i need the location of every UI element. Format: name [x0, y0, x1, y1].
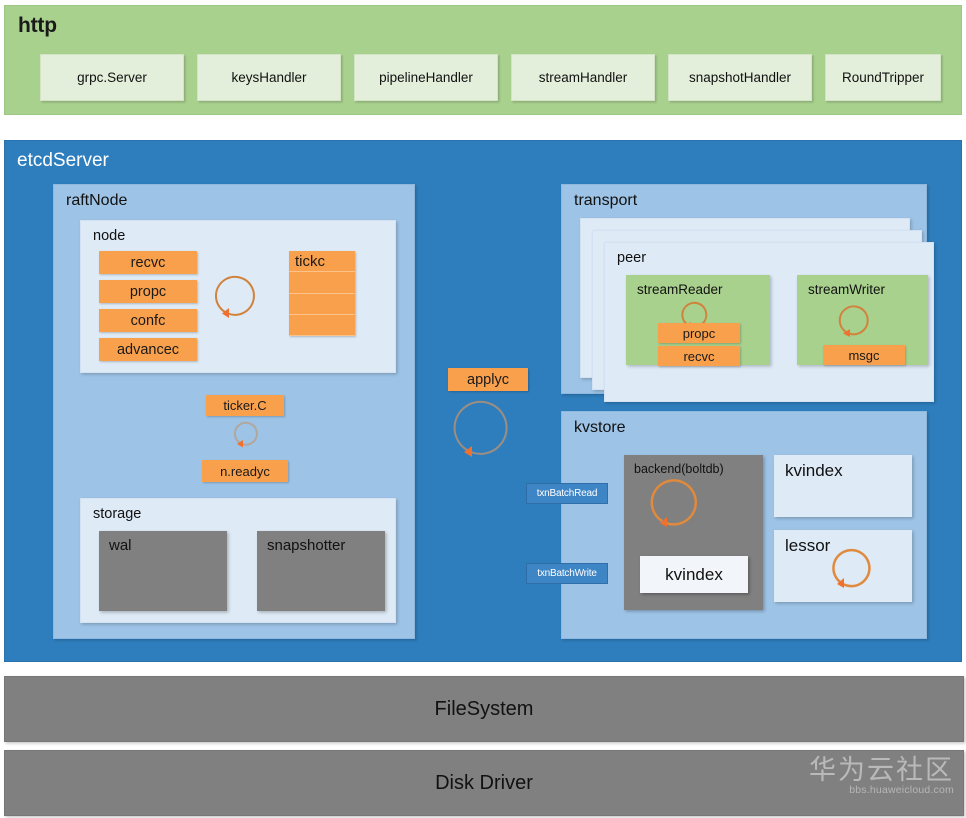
raftnode-label: raftNode — [66, 192, 127, 210]
node-label: node — [93, 228, 125, 244]
stream-writer-label: streamWriter — [808, 282, 885, 297]
node-loop-arrow-icon — [209, 269, 267, 327]
chip-n-readyc[interactable]: n.readyc — [202, 460, 288, 482]
handler-pipeline[interactable]: pipelineHandler — [354, 54, 498, 101]
chip-propc[interactable]: propc — [99, 280, 197, 303]
etcd-server-layer: etcdServer raftNode node recvc propc con… — [4, 140, 962, 662]
stream-writer-box[interactable]: streamWriter msgc — [797, 275, 928, 365]
storage-snapshotter-box[interactable]: snapshotter — [257, 531, 385, 611]
peer-card: peer streamReader propc recvc strea — [604, 242, 934, 402]
queue-tickc-label: tickc — [295, 253, 325, 270]
filesystem-bar: FileSystem — [4, 676, 964, 742]
diagram-canvas: http grpc.Server keysHandler pipelineHan… — [0, 0, 966, 818]
handler-stream[interactable]: streamHandler — [511, 54, 655, 101]
handler-round-tripper[interactable]: RoundTripper — [825, 54, 941, 101]
stream-reader-label: streamReader — [637, 282, 723, 297]
chip-stream-reader-recvc[interactable]: recvc — [658, 346, 740, 366]
raftnode-panel: raftNode node recvc propc confc advancec — [53, 184, 415, 639]
etcd-server-title: etcdServer — [17, 150, 109, 172]
chip-applyc[interactable]: applyc — [448, 368, 528, 391]
backend-boltdb-box[interactable]: backend(boltdb) kvindex — [624, 455, 763, 610]
chip-confc[interactable]: confc — [99, 309, 197, 332]
watermark-brand: 华为云社区 — [809, 756, 954, 784]
backend-kvindex-box[interactable]: kvindex — [640, 556, 748, 593]
watermark: 华为云社区 bbs.huaweicloud.com — [809, 756, 954, 796]
handler-grpc-server[interactable]: grpc.Server — [40, 54, 184, 101]
lessor-box[interactable]: lessor — [774, 530, 912, 602]
storage-panel: storage wal snapshotter — [80, 498, 396, 623]
txn-batch-read-tag[interactable]: txnBatchRead — [526, 483, 608, 504]
applyc-loop-arrow-icon — [455, 403, 527, 475]
txn-batch-write-tag[interactable]: txnBatchWrite — [526, 563, 608, 584]
storage-label: storage — [93, 506, 141, 522]
http-layer-title: http — [18, 14, 57, 38]
kvindex-label: kvindex — [785, 461, 843, 481]
queue-tickc[interactable]: tickc — [289, 251, 355, 336]
storage-snapshotter-label: snapshotter — [267, 537, 345, 554]
http-layer: http grpc.Server keysHandler pipelineHan… — [4, 5, 962, 115]
transport-panel: transport peer streamReader propc — [561, 184, 927, 394]
handler-snapshot[interactable]: snapshotHandler — [668, 54, 812, 101]
stream-writer-loop-arrow-icon — [837, 301, 885, 345]
node-panel: node recvc propc confc advancec tickc — [80, 220, 396, 373]
backend-loop-arrow-icon — [652, 479, 722, 541]
storage-wal-label: wal — [109, 537, 132, 554]
watermark-url: bbs.huaweicloud.com — [809, 784, 954, 796]
chip-stream-reader-propc[interactable]: propc — [658, 323, 740, 343]
chip-ticker-c[interactable]: ticker.C — [206, 395, 284, 416]
peer-label: peer — [617, 250, 646, 266]
kvindex-box[interactable]: kvindex — [774, 455, 912, 517]
chip-advancec[interactable]: advancec — [99, 338, 197, 361]
ticker-loop-arrow-icon — [230, 418, 264, 452]
chip-stream-writer-msgc[interactable]: msgc — [823, 345, 905, 365]
backend-boltdb-label: backend(boltdb) — [634, 462, 724, 476]
kvstore-label: kvstore — [574, 419, 626, 437]
storage-wal-box[interactable]: wal — [99, 531, 227, 611]
lessor-label: lessor — [785, 536, 830, 556]
kvstore-panel: kvstore backend(boltdb) kvindex kvindex … — [561, 411, 927, 639]
lessor-loop-arrow-icon — [830, 546, 886, 598]
transport-label: transport — [574, 192, 637, 210]
chip-recvc[interactable]: recvc — [99, 251, 197, 274]
handler-keys[interactable]: keysHandler — [197, 54, 341, 101]
stream-reader-box[interactable]: streamReader propc recvc — [626, 275, 770, 365]
